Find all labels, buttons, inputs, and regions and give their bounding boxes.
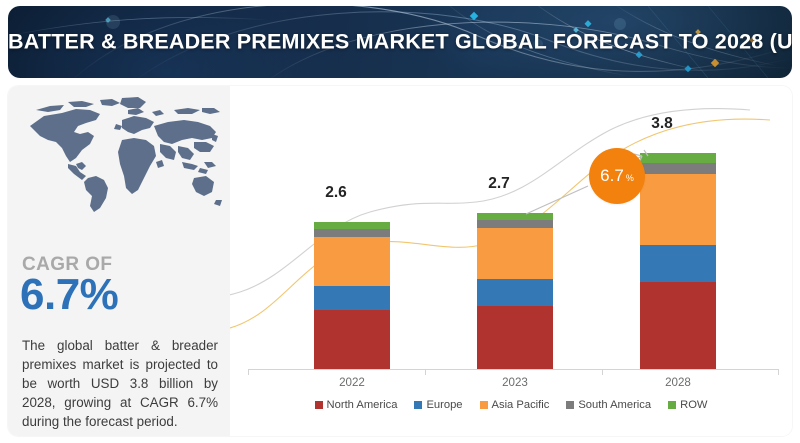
bar-segment-north-america [314, 310, 390, 369]
axis-tick [778, 369, 779, 375]
bar-segment-south-america [314, 229, 390, 237]
bar-segment-europe [314, 286, 390, 310]
plot-area: 2.6 2022 2.7 2023 [230, 86, 792, 436]
legend-swatch-icon [480, 401, 488, 409]
callout-value: 6.7 [600, 148, 624, 204]
legend-item-asia-pacific[interactable]: Asia Pacific [480, 399, 550, 411]
legend-label: Asia Pacific [492, 399, 550, 411]
bar-segment-asia-pacific [477, 228, 553, 279]
legend-label: Europe [426, 399, 462, 411]
cagr-callout-bubble: 6.7 % [589, 148, 645, 204]
infographic-page: BATTER & BREADER PREMIXES MARKET GLOBAL … [0, 0, 800, 443]
legend-swatch-icon [668, 401, 676, 409]
page-title: BATTER & BREADER PREMIXES MARKET GLOBAL … [8, 30, 792, 55]
x-axis-label-2028: 2028 [623, 376, 733, 389]
bar-segment-row [314, 222, 390, 229]
legend-label: ROW [680, 399, 707, 411]
bar-segment-north-america [640, 282, 716, 369]
axis-tick [425, 369, 426, 375]
callout-unit: % [626, 150, 634, 206]
bar-value-label: 3.8 [617, 115, 707, 133]
legend-item-row[interactable]: ROW [668, 399, 707, 411]
sidebar-description: The global batter & breader premixes mar… [22, 336, 218, 431]
axis-tick [602, 369, 603, 375]
bar-segment-europe [640, 245, 716, 282]
legend-item-europe[interactable]: Europe [414, 399, 462, 411]
bar-segment-north-america [477, 306, 553, 369]
stacked-bar-2023 [477, 213, 553, 369]
x-axis-label-2022: 2022 [297, 376, 407, 389]
chart-legend: North America Europe Asia Pacific South … [230, 399, 792, 411]
stacked-bar-2022 [314, 222, 390, 369]
header-banner: BATTER & BREADER PREMIXES MARKET GLOBAL … [8, 6, 792, 78]
bar-value-label: 2.6 [291, 184, 381, 202]
bar-segment-asia-pacific [314, 237, 390, 286]
legend-item-south-america[interactable]: South America [566, 399, 651, 411]
legend-swatch-icon [414, 401, 422, 409]
x-axis-line [248, 369, 778, 370]
content-card: CAGR OF 6.7% The global batter & breader… [8, 86, 792, 436]
x-axis-label-2023: 2023 [460, 376, 570, 389]
world-map-icon [16, 96, 224, 214]
axis-tick [248, 369, 249, 375]
chart-panel: 2.6 2022 2.7 2023 [230, 86, 792, 436]
legend-swatch-icon [315, 401, 323, 409]
legend-swatch-icon [566, 401, 574, 409]
sidebar-panel: CAGR OF 6.7% The global batter & breader… [8, 86, 231, 436]
legend-label: South America [578, 399, 651, 411]
legend-label: North America [327, 399, 398, 411]
bar-segment-europe [477, 279, 553, 306]
cagr-value: 6.7% [20, 270, 118, 320]
legend-item-north-america[interactable]: North America [315, 399, 398, 411]
